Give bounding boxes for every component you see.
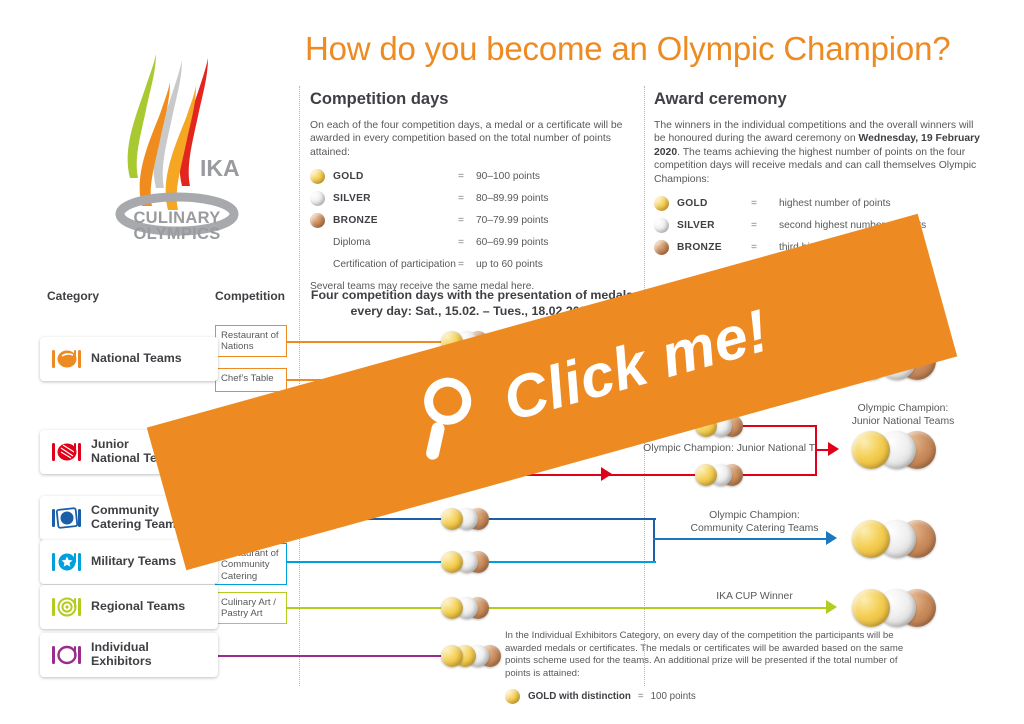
plate-cutlery-icon bbox=[50, 347, 84, 371]
gold-distinction-label: GOLD with distinction bbox=[528, 691, 631, 704]
equals-sign: = bbox=[751, 198, 779, 209]
equals-sign: = bbox=[638, 691, 644, 704]
gold-medal-icon bbox=[695, 464, 717, 486]
category-label-line-2: Exhibitors bbox=[91, 654, 152, 668]
silver-medal-icon bbox=[654, 218, 669, 233]
page-title: How do you become an Olympic Champion? bbox=[305, 30, 950, 68]
connector-catering-out bbox=[653, 538, 829, 540]
winner-label-line-2: Junior National Teams bbox=[828, 415, 978, 428]
points-row-silver: SILVER = 80–89.99 points bbox=[310, 191, 632, 206]
winner-label-line-2: Community Catering Teams bbox=[672, 522, 837, 535]
arrow-junior-mid-2 bbox=[601, 467, 612, 481]
label-ika-cup-winner: IKA CUP Winner bbox=[672, 590, 837, 603]
category-card-regional-teams[interactable]: Regional Teams bbox=[40, 585, 218, 629]
medal-trio-junior-mid-2 bbox=[695, 464, 751, 486]
column-header-competition: Competition bbox=[215, 289, 285, 303]
medal-trio-community bbox=[441, 508, 497, 530]
points-value: 70–79.99 points bbox=[476, 215, 549, 226]
gold-medal-icon bbox=[441, 508, 463, 530]
silver-medal-icon bbox=[310, 191, 325, 206]
label-winner-junior-teams: Olympic Champion: Junior National Teams bbox=[828, 402, 978, 428]
plate-cutlery-icon bbox=[50, 595, 84, 619]
magnifier-icon bbox=[405, 367, 491, 466]
plate-cutlery-star-icon bbox=[50, 550, 84, 574]
gold-distinction-value: 100 points bbox=[651, 691, 696, 704]
competition-box-restaurant-of-nations[interactable]: Restaurant of Nations bbox=[215, 325, 287, 357]
plate-cutlery-icon bbox=[50, 643, 84, 667]
points-label: GOLD bbox=[333, 171, 458, 182]
category-label: Individual Exhibitors bbox=[91, 641, 152, 668]
gold-medal-icon bbox=[852, 431, 890, 469]
equals-sign: = bbox=[458, 171, 476, 182]
points-label: Diploma bbox=[333, 237, 458, 248]
category-label-line-1: Regional Teams bbox=[91, 599, 185, 613]
category-card-individual-exhibitors[interactable]: Individual Exhibitors bbox=[40, 633, 218, 677]
bronze-medal-icon bbox=[310, 213, 325, 228]
award-row-silver: SILVER = second highest number of points bbox=[654, 218, 984, 233]
category-label-line-1: Junior bbox=[91, 437, 129, 451]
gold-with-distinction-icon bbox=[441, 645, 463, 667]
category-label-line-1: National Teams bbox=[91, 351, 182, 365]
bronze-medal-icon bbox=[654, 240, 669, 255]
arrow-junior-national-teams bbox=[828, 442, 839, 456]
points-label: SILVER bbox=[333, 193, 458, 204]
medal-trio-regional bbox=[441, 597, 497, 619]
medal-trio-winner-junior bbox=[852, 431, 948, 469]
points-value: 80–89.99 points bbox=[476, 193, 549, 204]
points-row-gold: GOLD = 90–100 points bbox=[310, 169, 632, 184]
intro-part-2: . The teams achieving the highest number… bbox=[654, 147, 976, 185]
award-label: SILVER bbox=[677, 220, 751, 231]
winner-label-line-1: Olympic Champion: bbox=[828, 402, 978, 415]
competition-box-culinary-art-pastry-art[interactable]: Culinary Art / Pastry Art bbox=[215, 592, 287, 624]
points-row-bronze: BRONZE = 70–79.99 points bbox=[310, 213, 632, 228]
column-header-category: Category bbox=[47, 289, 99, 303]
award-ceremony-intro: The winners in the individual competitio… bbox=[654, 119, 984, 186]
days-banner-line-1: Four competition days with the presentat… bbox=[305, 287, 639, 303]
medal-quad-individual bbox=[441, 645, 511, 667]
gold-medal-icon bbox=[852, 589, 890, 627]
logo-line-1: CULINARY bbox=[112, 210, 242, 226]
logo-line-2: OLYMPICS bbox=[112, 226, 242, 242]
gold-medal-icon bbox=[310, 169, 325, 184]
points-value: up to 60 points bbox=[476, 259, 543, 270]
category-label: Military Teams bbox=[91, 555, 176, 569]
medal-trio-winner-ika-cup bbox=[852, 589, 948, 627]
medal-trio-military bbox=[441, 551, 497, 573]
award-ceremony-heading: Award ceremony bbox=[654, 90, 984, 109]
gold-medal-icon bbox=[852, 520, 890, 558]
individual-note-text: In the Individual Exhibitors Category, o… bbox=[505, 630, 925, 680]
competition-days-heading: Competition days bbox=[310, 90, 632, 109]
medal-trio-winner-community bbox=[852, 520, 948, 558]
winner-label-line-1: Olympic Champion: bbox=[672, 509, 837, 522]
points-value: 60–69.99 points bbox=[476, 237, 549, 248]
category-label: National Teams bbox=[91, 352, 182, 366]
label-winner-community-catering: Olympic Champion: Community Catering Tea… bbox=[672, 509, 837, 535]
points-row-certification: Certification of participation = up to 6… bbox=[310, 257, 632, 272]
equals-sign: = bbox=[458, 193, 476, 204]
no-medal-spacer bbox=[310, 257, 325, 272]
equals-sign: = bbox=[458, 215, 476, 226]
points-label: BRONZE bbox=[333, 215, 458, 226]
award-label: GOLD bbox=[677, 198, 751, 209]
points-row-diploma: Diploma = 60–69.99 points bbox=[310, 235, 632, 250]
equals-sign: = bbox=[458, 259, 476, 270]
gold-medal-icon bbox=[441, 551, 463, 573]
award-value: highest number of points bbox=[779, 198, 891, 209]
gold-medal-icon bbox=[441, 597, 463, 619]
award-label: BRONZE bbox=[677, 242, 751, 253]
plate-cutlery-icon bbox=[50, 506, 84, 530]
points-value: 90–100 points bbox=[476, 171, 540, 182]
no-medal-spacer bbox=[310, 235, 325, 250]
equals-sign: = bbox=[751, 220, 779, 231]
category-label-line-1: Community bbox=[91, 503, 159, 517]
competition-days-intro: On each of the four competition days, a … bbox=[310, 119, 632, 159]
category-label-line-1: Individual bbox=[91, 640, 149, 654]
label-junior-mid: Olympic Champion: Junior National T. bbox=[640, 442, 820, 455]
plate-cutlery-icon bbox=[50, 440, 84, 464]
gold-with-distinction-row: GOLD with distinction = 100 points bbox=[505, 689, 925, 704]
competition-box-chefs-table[interactable]: Chef’s Table bbox=[215, 368, 287, 392]
ika-logo: IKA bbox=[112, 38, 242, 238]
category-label-line-1: Military Teams bbox=[91, 554, 176, 568]
competition-days-panel: Competition days On each of the four com… bbox=[310, 90, 632, 292]
connector-individual-row bbox=[186, 655, 444, 657]
equals-sign: = bbox=[458, 237, 476, 248]
category-card-national-teams[interactable]: National Teams bbox=[40, 337, 218, 381]
infographic-canvas: IKA CULINARY OLYMPICS How do you become … bbox=[0, 0, 1024, 724]
logo-wordmark: CULINARY OLYMPICS bbox=[112, 210, 242, 242]
individual-exhibitors-note: In the Individual Exhibitors Category, o… bbox=[505, 630, 925, 704]
award-ceremony-panel: Award ceremony The winners in the indivi… bbox=[654, 90, 984, 262]
equals-sign: = bbox=[751, 242, 779, 253]
gold-with-distinction-icon bbox=[505, 689, 520, 704]
svg-text:IKA: IKA bbox=[200, 155, 240, 181]
points-label: Certification of participation bbox=[333, 259, 458, 270]
award-row-gold: GOLD = highest number of points bbox=[654, 196, 984, 211]
category-label-line-2: Catering Teams bbox=[91, 517, 183, 531]
category-label: Regional Teams bbox=[91, 600, 185, 614]
gold-medal-icon bbox=[654, 196, 669, 211]
